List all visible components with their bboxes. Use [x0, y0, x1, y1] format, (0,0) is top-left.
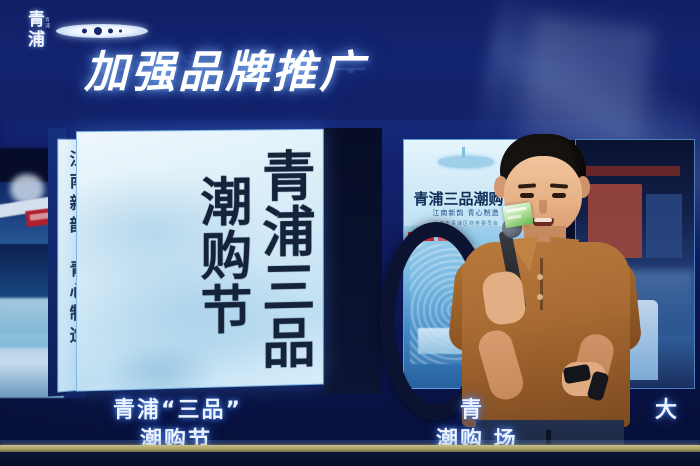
caption-left-line1: 青浦“三品”	[113, 392, 242, 424]
main-poster: 青浦三品 潮购节	[77, 130, 323, 391]
caption-right-line1: 青	[460, 392, 484, 424]
stage-floor	[0, 452, 700, 466]
screen-separator	[324, 128, 382, 394]
poster-brush-right: 青浦三品	[258, 148, 309, 372]
microphone-flag-card	[502, 202, 533, 228]
logo-characters: 青浦	[18, 10, 44, 50]
caption-far-right: 大	[655, 392, 679, 424]
logo-subtext: 青浦	[44, 17, 51, 29]
stage-photo: 青浦 青浦 加强品牌推广 加强品牌推广 江南新韵，青心制造 青浦三品 潮购节 青…	[0, 0, 700, 466]
poster-brush-left: 潮购节	[196, 174, 246, 337]
stage-gold-band	[0, 445, 700, 452]
page-title: 加强品牌推广	[84, 36, 366, 100]
